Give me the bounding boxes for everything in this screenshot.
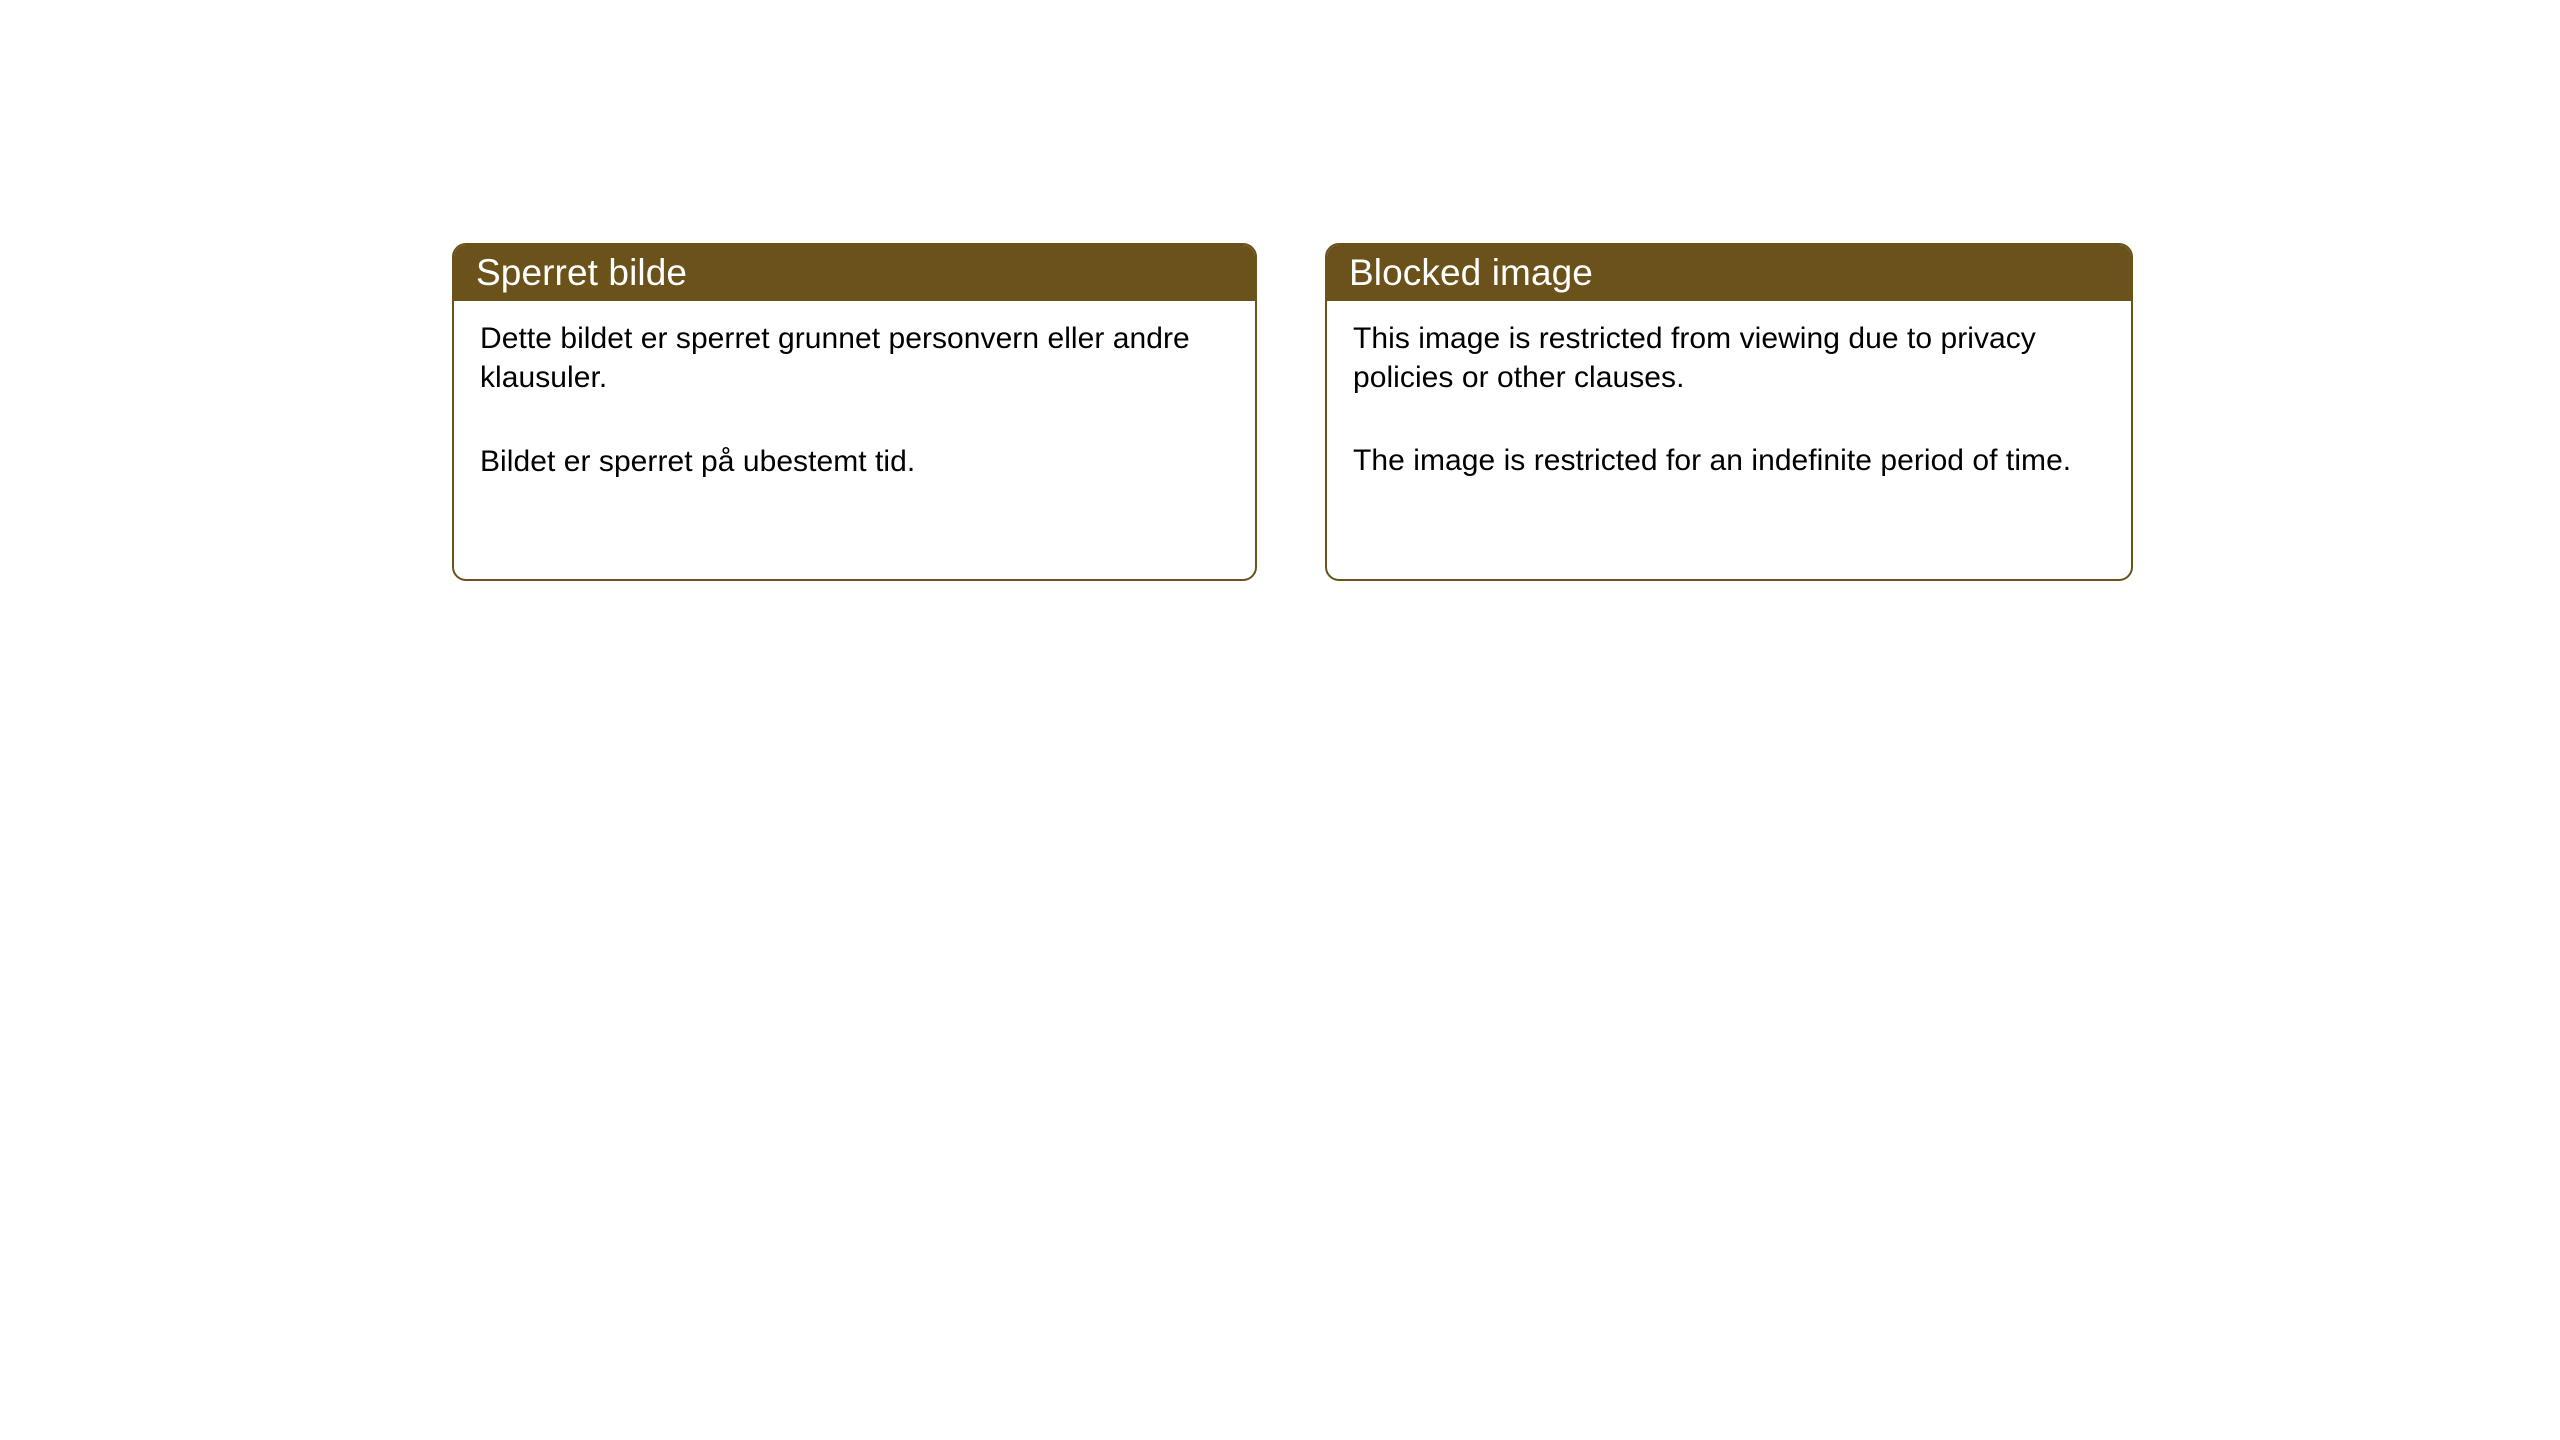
blocked-image-notice-card-norwegian: Sperret bilde Dette bildet er sperret gr…: [452, 243, 1257, 581]
card-paragraph-duration-norwegian: Bildet er sperret på ubestemt tid.: [480, 442, 1225, 481]
card-paragraph-reason-english: This image is restricted from viewing du…: [1353, 319, 2101, 397]
card-title-norwegian: Sperret bilde: [476, 254, 687, 291]
page-root: Sperret bilde Dette bildet er sperret gr…: [0, 0, 2560, 1440]
card-paragraph-reason-norwegian: Dette bildet er sperret grunnet personve…: [480, 319, 1225, 397]
card-header-norwegian: Sperret bilde: [452, 243, 1257, 301]
card-body-norwegian: Dette bildet er sperret grunnet personve…: [454, 301, 1255, 501]
card-title-english: Blocked image: [1349, 254, 1593, 291]
card-body-english: This image is restricted from viewing du…: [1327, 301, 2131, 500]
blocked-image-notice-card-english: Blocked image This image is restricted f…: [1325, 243, 2133, 581]
card-paragraph-duration-english: The image is restricted for an indefinit…: [1353, 441, 2101, 480]
card-header-english: Blocked image: [1325, 243, 2133, 301]
